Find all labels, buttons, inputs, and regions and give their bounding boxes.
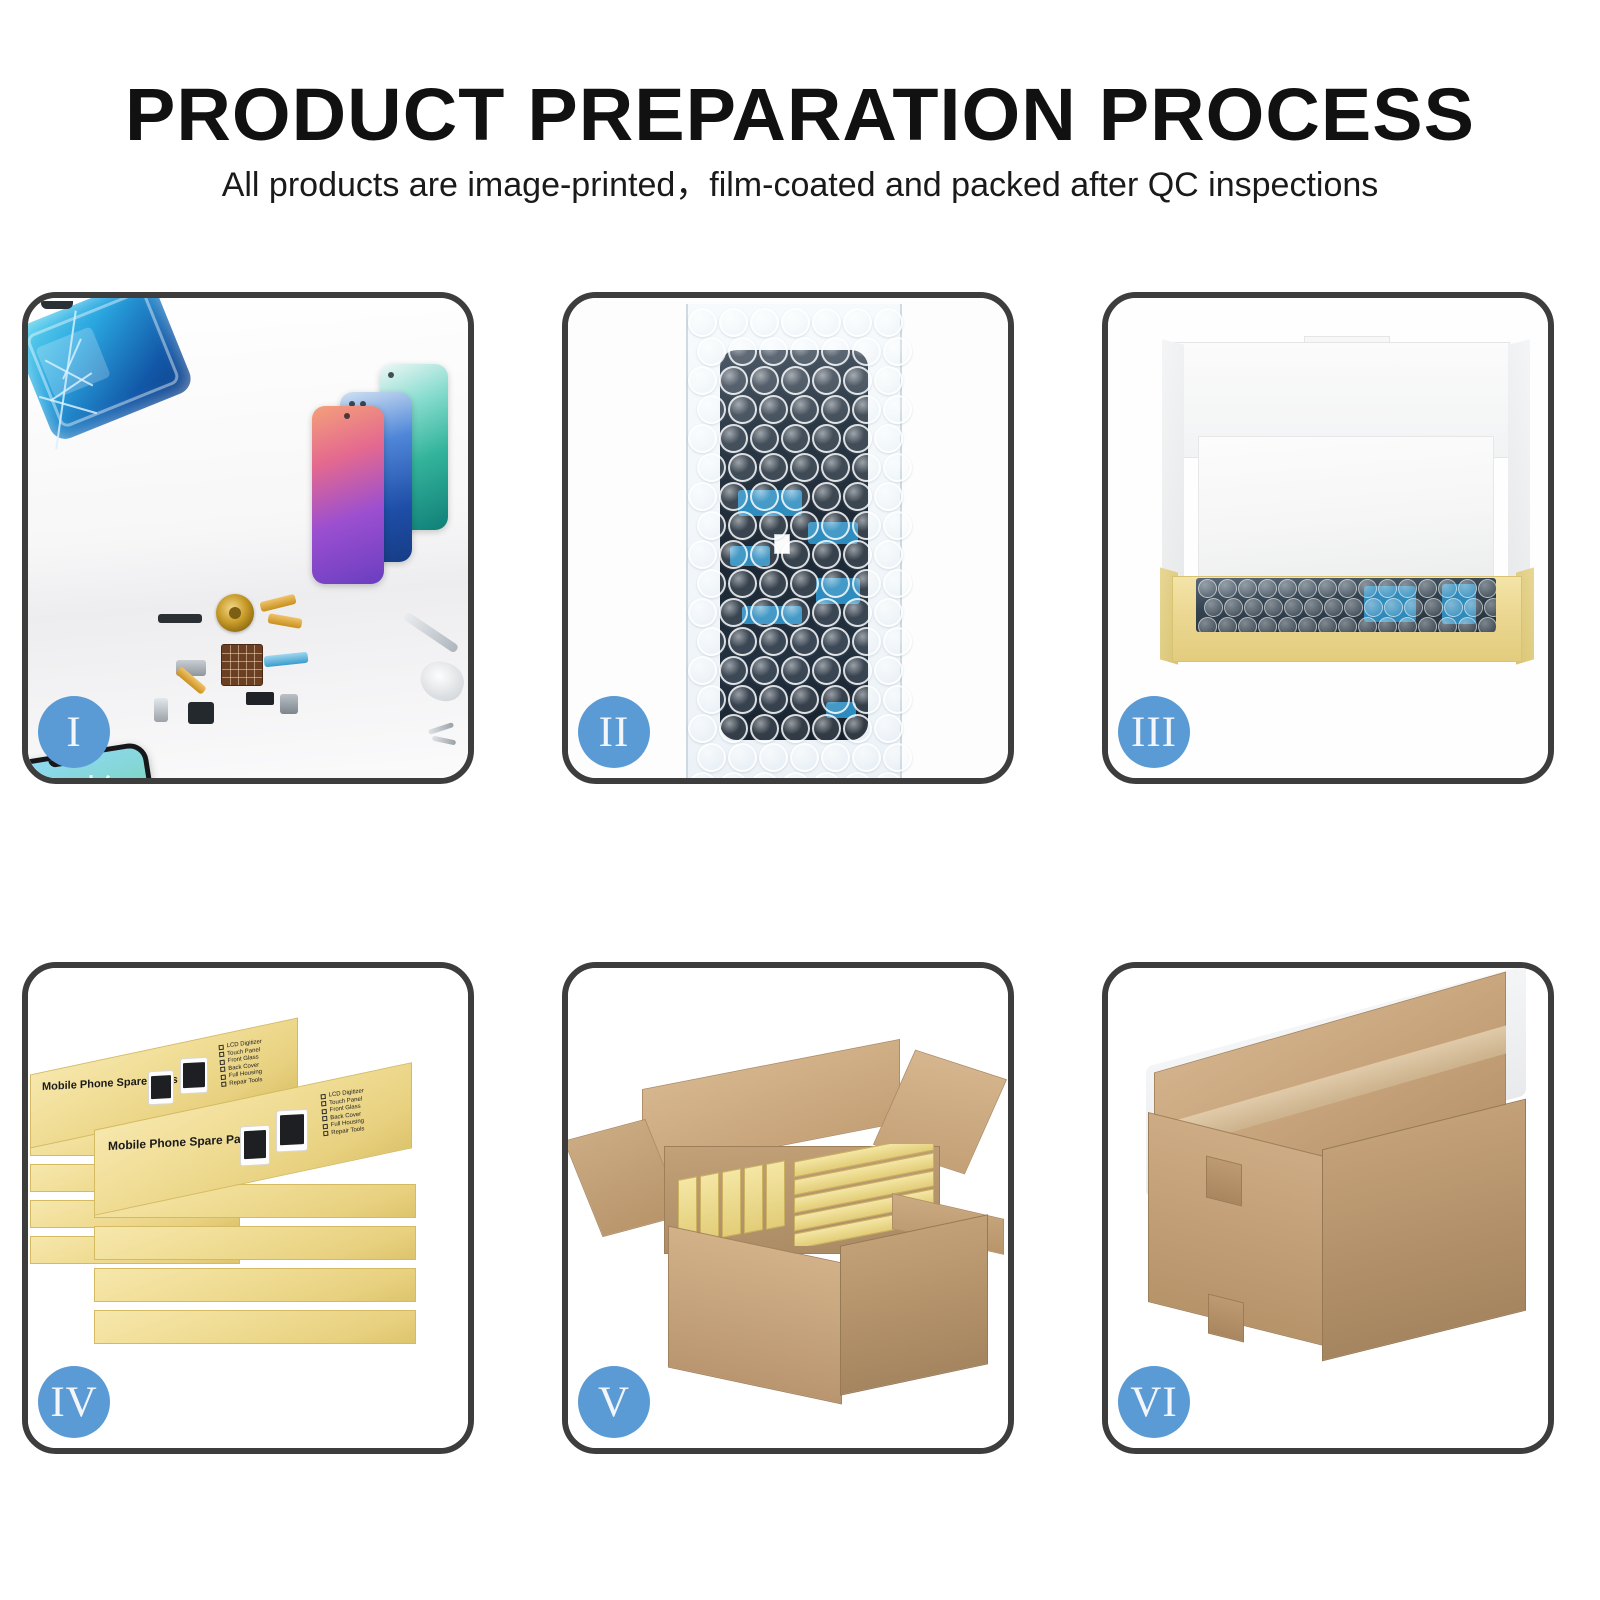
bubble — [812, 598, 841, 627]
process-step-panel-6[interactable]: VI — [1102, 962, 1554, 1454]
checkbox-icon — [220, 1059, 225, 1065]
step-badge-5: V — [578, 1366, 650, 1438]
bubble — [874, 366, 903, 395]
bubble — [1344, 598, 1363, 617]
camera-punch-hole — [344, 413, 350, 419]
bubble — [781, 772, 810, 778]
bubble — [719, 598, 748, 627]
bubble — [759, 569, 788, 598]
checkbox-icon — [321, 1093, 326, 1099]
bubble-wrapped-screen-in-box — [1196, 578, 1496, 632]
bubble — [1318, 617, 1337, 632]
bubble — [781, 482, 810, 511]
crack-line — [76, 775, 110, 778]
bubble — [759, 627, 788, 656]
camera-punch-hole — [388, 372, 394, 378]
bubble — [790, 453, 819, 482]
bubble — [750, 656, 779, 685]
bubble — [852, 453, 881, 482]
checkbox-icon — [220, 1067, 225, 1073]
bubble — [874, 598, 903, 627]
bubble — [812, 656, 841, 685]
bubble — [750, 598, 779, 627]
bubble — [812, 772, 841, 778]
bubble — [821, 685, 850, 714]
carton-tape-tab — [1206, 1156, 1242, 1207]
bubble — [874, 714, 903, 743]
bubble — [843, 598, 872, 627]
bubble — [790, 511, 819, 540]
bubble — [719, 366, 748, 395]
bubble — [1418, 617, 1437, 632]
bubble — [812, 482, 841, 511]
checkbox-icon — [322, 1108, 327, 1114]
bubble — [1478, 617, 1496, 632]
ic-chip-part — [221, 644, 263, 686]
bubble — [852, 511, 881, 540]
bubble — [697, 627, 726, 656]
bubble — [781, 714, 810, 743]
bubble — [697, 395, 726, 424]
bubble — [688, 598, 717, 627]
gold-retail-box — [766, 1160, 785, 1230]
process-step-panel-3[interactable]: III — [1102, 292, 1554, 784]
bubble — [821, 511, 850, 540]
sim-tray-part — [154, 698, 168, 722]
bubble — [750, 772, 779, 778]
bubble — [1198, 579, 1217, 598]
bubble — [790, 627, 819, 656]
bubble — [750, 540, 779, 569]
bubble — [852, 627, 881, 656]
bubble — [843, 656, 872, 685]
bubble — [781, 656, 810, 685]
bubble — [688, 656, 717, 685]
bubble — [1284, 598, 1303, 617]
bubble — [688, 540, 717, 569]
bubble — [1258, 579, 1277, 598]
bubble — [697, 511, 726, 540]
bubble — [1198, 617, 1217, 632]
checkbox-icon — [321, 1101, 326, 1107]
bubble — [781, 598, 810, 627]
bubble — [1318, 579, 1337, 598]
checkbox-icon — [323, 1123, 328, 1129]
chip-grid-line — [222, 677, 262, 678]
checkbox-icon — [221, 1081, 226, 1087]
bubble — [883, 743, 912, 772]
chip-grid-line — [222, 653, 262, 654]
bubble — [821, 569, 850, 598]
bubble — [843, 366, 872, 395]
process-step-panel-2[interactable]: II — [562, 292, 1014, 784]
crack-line — [89, 775, 100, 778]
checkbox-icon — [219, 1052, 224, 1058]
bubble — [1238, 579, 1257, 598]
bubble — [821, 743, 850, 772]
bubble — [750, 482, 779, 511]
bubble — [883, 453, 912, 482]
bubble — [852, 569, 881, 598]
bubble — [719, 656, 748, 685]
bubble — [728, 453, 757, 482]
bubble — [759, 743, 788, 772]
bubble — [759, 337, 788, 366]
retail-box-checklist: LCD DigitizerTouch PanelFront GlassBack … — [218, 1039, 264, 1089]
bubble — [1238, 617, 1257, 632]
bubble — [1244, 598, 1263, 617]
bubble — [843, 540, 872, 569]
box-lid-right-flap — [1508, 339, 1530, 584]
bubble — [781, 366, 810, 395]
bubble — [843, 424, 872, 453]
bubble — [812, 540, 841, 569]
bubble — [874, 540, 903, 569]
bubble — [1458, 579, 1477, 598]
bubble — [781, 540, 810, 569]
bubble — [843, 714, 872, 743]
bubble — [843, 772, 872, 778]
bubble — [1478, 579, 1496, 598]
bubble — [821, 337, 850, 366]
process-step-panel-5[interactable]: V — [562, 962, 1014, 1454]
bubble — [728, 685, 757, 714]
bubble — [790, 569, 819, 598]
bubble — [821, 395, 850, 424]
bubble — [1398, 579, 1417, 598]
speaker-mesh-part — [158, 614, 202, 623]
bubble — [790, 743, 819, 772]
bubble — [874, 772, 903, 778]
bubble — [688, 772, 717, 778]
chip-grid-line — [246, 645, 247, 685]
bubble — [843, 308, 872, 337]
chip-grid-line — [222, 669, 262, 670]
bubble — [790, 337, 819, 366]
bubble — [728, 743, 757, 772]
bubble — [883, 685, 912, 714]
step-badge-1: I — [38, 696, 110, 768]
bubble — [843, 482, 872, 511]
retail-box-slab — [94, 1268, 416, 1302]
bubble — [883, 569, 912, 598]
bubble — [874, 482, 903, 511]
bubble — [697, 685, 726, 714]
bubble — [1378, 617, 1397, 632]
retail-box-slab — [94, 1310, 416, 1344]
bubble — [688, 424, 717, 453]
checkbox-icon — [219, 1044, 224, 1050]
bubble — [728, 511, 757, 540]
carton-side-face — [840, 1214, 988, 1395]
bubble — [728, 627, 757, 656]
bubble — [1338, 579, 1357, 598]
chip-grid-line — [254, 645, 255, 685]
purple-phone — [312, 406, 384, 584]
bubble — [852, 743, 881, 772]
bubble — [719, 714, 748, 743]
bubble — [1418, 579, 1437, 598]
bubble — [852, 337, 881, 366]
bubble — [1278, 579, 1297, 598]
bubble — [883, 627, 912, 656]
bubble — [1204, 598, 1223, 617]
bubble — [1278, 617, 1297, 632]
gold-retail-box — [700, 1172, 719, 1242]
bubble — [697, 743, 726, 772]
retail-box-phone-image — [148, 1070, 174, 1105]
retail-box-phone-image — [276, 1109, 308, 1153]
bubble — [821, 453, 850, 482]
bubble — [1298, 617, 1317, 632]
bubble — [781, 308, 810, 337]
process-step-panel-4[interactable]: Mobile Phone Spare Parts LCD DigitizerTo… — [22, 962, 474, 1454]
bubble — [759, 685, 788, 714]
bubble — [883, 511, 912, 540]
bubble — [812, 366, 841, 395]
bubble — [1464, 598, 1483, 617]
gold-retail-box — [744, 1164, 763, 1234]
checkbox-icon — [322, 1116, 327, 1122]
step-badge-6: VI — [1118, 1366, 1190, 1438]
bubble — [1218, 579, 1237, 598]
step-badge-2: II — [578, 696, 650, 768]
bubble — [728, 395, 757, 424]
bubble — [1378, 579, 1397, 598]
checkbox-icon — [323, 1131, 328, 1137]
bubble — [1358, 617, 1377, 632]
bubble — [1424, 598, 1443, 617]
bubble — [750, 424, 779, 453]
retail-box-slab — [94, 1226, 416, 1260]
bubble — [1218, 617, 1237, 632]
bubble — [1358, 579, 1377, 598]
bubble — [812, 308, 841, 337]
bubble — [719, 424, 748, 453]
bubble — [874, 656, 903, 685]
bubble — [812, 424, 841, 453]
chip-grid-line — [222, 661, 262, 662]
process-step-grid: I II — [0, 0, 1600, 1600]
bubble — [1224, 598, 1243, 617]
bubble — [728, 569, 757, 598]
bubble — [1338, 617, 1357, 632]
gold-retail-box — [722, 1168, 741, 1238]
foam-insert — [1198, 436, 1494, 582]
bubble — [1324, 598, 1343, 617]
bubble — [759, 395, 788, 424]
bubble — [874, 308, 903, 337]
retail-box-phone-image — [240, 1125, 270, 1167]
process-step-panel-1[interactable]: I — [22, 292, 474, 784]
bubble — [874, 424, 903, 453]
bubble — [821, 627, 850, 656]
checkbox-icon — [221, 1074, 226, 1080]
bubble — [790, 395, 819, 424]
retail-box-phone-image — [180, 1057, 208, 1095]
bubble — [1258, 617, 1277, 632]
bubble — [688, 714, 717, 743]
bubble — [688, 366, 717, 395]
bubble — [852, 395, 881, 424]
bubble — [697, 337, 726, 366]
vibration-motor-part — [280, 694, 298, 714]
bubble — [750, 308, 779, 337]
bubble — [697, 453, 726, 482]
bubble — [719, 482, 748, 511]
bubble — [1398, 617, 1417, 632]
bubble — [1264, 598, 1283, 617]
connector-part — [246, 692, 274, 705]
bubble — [1384, 598, 1403, 617]
bubble — [759, 453, 788, 482]
bubble — [750, 366, 779, 395]
bubble — [1438, 579, 1457, 598]
bubble — [759, 511, 788, 540]
bubble — [781, 424, 810, 453]
bubble — [688, 482, 717, 511]
bubble — [790, 685, 819, 714]
bubble — [688, 308, 717, 337]
chip-grid-line — [230, 645, 231, 685]
bubble — [1364, 598, 1383, 617]
bubble-layer — [686, 304, 902, 778]
bubble — [728, 337, 757, 366]
bubble — [852, 685, 881, 714]
bubble — [1438, 617, 1457, 632]
bubble — [883, 337, 912, 366]
step-badge-3: III — [1118, 696, 1190, 768]
wireless-charging-coil-part — [216, 594, 254, 632]
bubble — [719, 308, 748, 337]
bubble — [719, 540, 748, 569]
bubble — [1298, 579, 1317, 598]
bubble — [883, 395, 912, 424]
bubble — [719, 772, 748, 778]
step-badge-4: IV — [38, 1366, 110, 1438]
bubble — [697, 569, 726, 598]
retail-box-checklist: LCD DigitizerTouch PanelFront GlassBack … — [320, 1088, 366, 1138]
bubble — [1458, 617, 1477, 632]
bubble — [1484, 598, 1496, 617]
bubble — [1444, 598, 1463, 617]
bubble — [750, 714, 779, 743]
bubble — [1304, 598, 1323, 617]
bubble — [1404, 598, 1423, 617]
camera-module-part — [188, 702, 214, 724]
box-lid-left-flap — [1162, 339, 1184, 584]
chip-grid-line — [238, 645, 239, 685]
bubble — [812, 714, 841, 743]
